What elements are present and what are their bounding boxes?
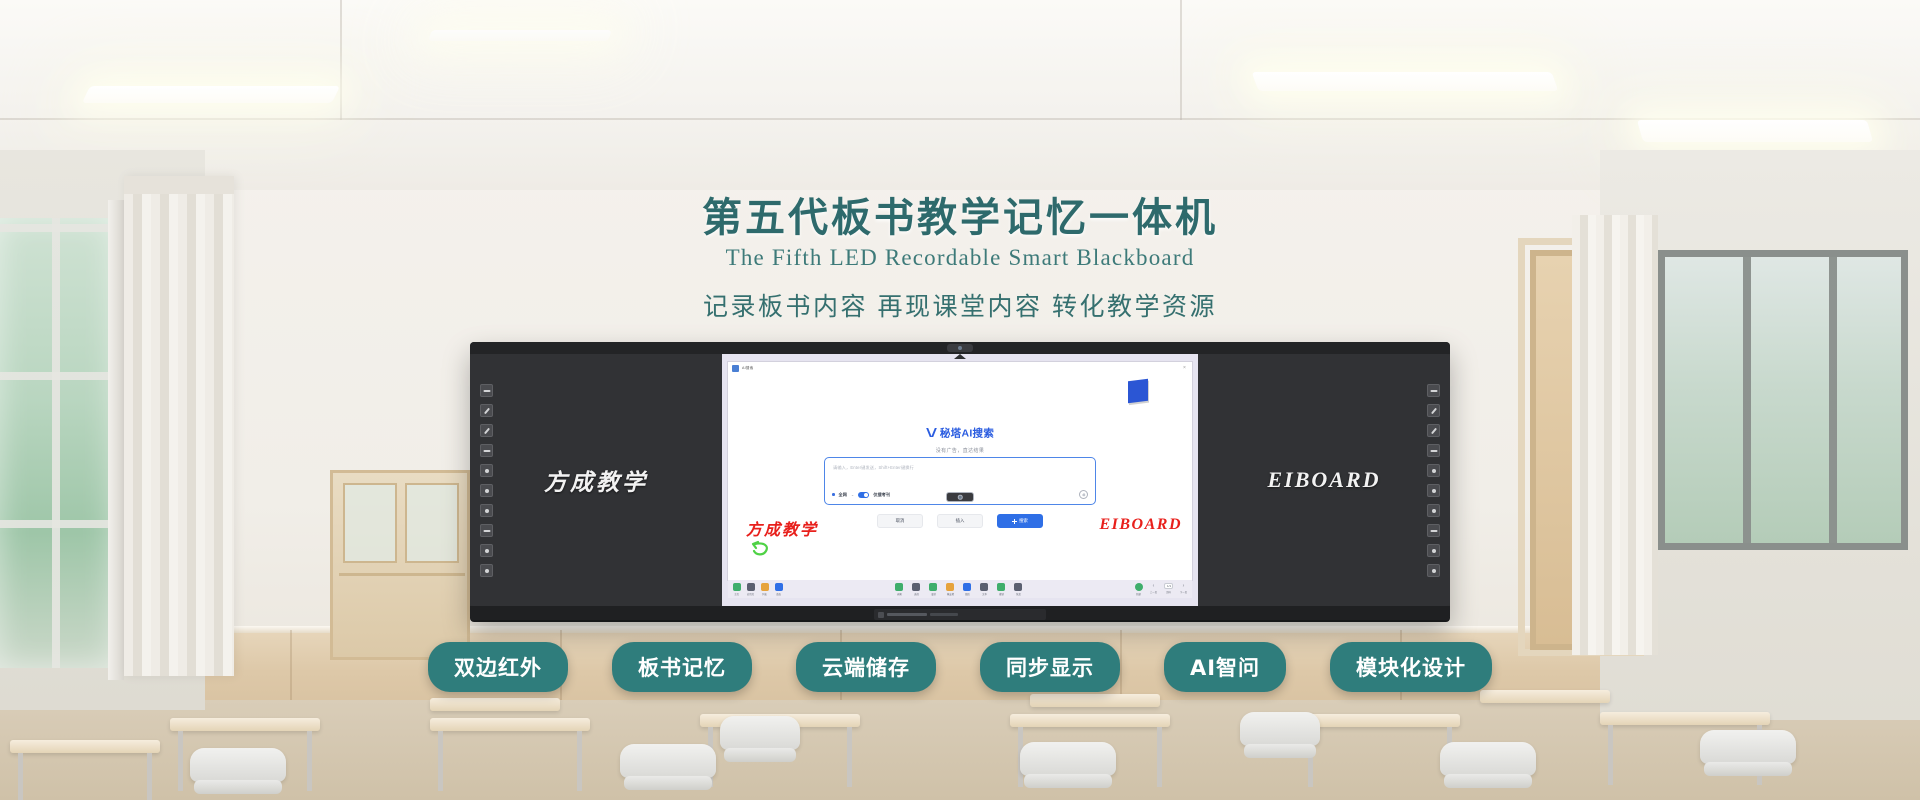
side-button-pen-white[interactable] <box>480 424 493 437</box>
cabinet-shelf <box>339 573 465 576</box>
page-number: 1/1 <box>1164 583 1173 589</box>
taskbar-tool[interactable]: 主页 <box>732 583 741 596</box>
scholar-only-label: 仅搜考刊 <box>873 492 890 498</box>
taskbar-tool-label: 应用库 <box>746 592 754 596</box>
feature-pill-row: 双边红外 板书记忆 云端储存 同步显示 AI智问 模块化设计 <box>0 642 1920 692</box>
feature-pill-board-memory[interactable]: 板书记忆 <box>612 642 752 692</box>
taskbar-tool-label: 撤销 <box>997 592 1005 596</box>
wooden-cabinet <box>330 470 470 660</box>
side-button-screen-toggle[interactable] <box>480 384 493 397</box>
chevron-right-icon: › <box>1179 583 1188 589</box>
taskbar-center-tools[interactable]: 画笔 选择 漫游 橡皮擦 图形 文本 撤销 恢复 <box>787 583 1130 596</box>
side-button-page-new[interactable] <box>480 444 493 457</box>
app-window-title: AI搜索 <box>742 366 753 371</box>
chevron-left-icon: ‹ <box>1149 583 1158 589</box>
metaso-logo-icon <box>926 428 937 437</box>
side-button-screen-toggle[interactable] <box>1427 384 1440 397</box>
taskbar-tool-label: 橡皮擦 <box>946 592 954 596</box>
cabinet-pane <box>405 483 459 563</box>
page-subtitle-english: The Fifth LED Recordable Smart Blackboar… <box>0 245 1920 271</box>
taskbar-tool[interactable]: 文本 <box>980 583 989 596</box>
taskbar-tool[interactable]: 应用库 <box>746 583 755 596</box>
left-panel-handwriting: 方成教学 <box>470 463 722 497</box>
next-page-label: 下一页 <box>1179 590 1187 594</box>
side-button-memory[interactable] <box>480 524 493 537</box>
screen-notch <box>954 354 966 359</box>
side-button-capture[interactable] <box>1427 544 1440 557</box>
taskbar-tool-label: 主页 <box>732 592 740 596</box>
ceiling-light <box>428 30 612 41</box>
os-status-bar[interactable] <box>874 609 1046 620</box>
page-title: 第五代板书教学记忆一体机 <box>0 196 1920 239</box>
ceiling-light <box>82 86 340 103</box>
camera-icon <box>947 344 973 352</box>
side-button-save[interactable] <box>480 504 493 517</box>
ceiling-seam <box>1180 0 1182 120</box>
side-button-pen-red[interactable] <box>480 404 493 417</box>
search-placeholder: 请输入，Enter键发送，Shift+Enter键换行 <box>833 465 914 471</box>
blackboard-display-screen[interactable]: AI搜索 × 秘塔AI搜索 没有广告，直达结果 请输入，Enter键发送，Shi… <box>722 354 1198 606</box>
ceiling-seam <box>0 118 1920 120</box>
cancel-button[interactable]: 取消 <box>877 514 923 528</box>
side-button-memory[interactable] <box>1427 524 1440 537</box>
hero-title-block: 第五代板书教学记忆一体机 The Fifth LED Recordable Sm… <box>0 196 1920 323</box>
insert-button[interactable]: 插入 <box>937 514 983 528</box>
taskbar-tool-label: 新建 <box>1134 592 1142 596</box>
app-taskbar[interactable]: 主页 应用库 列表 桌面 画笔 选择 漫游 橡皮擦 图形 文本 撤销 恢复 新建 <box>728 580 1192 598</box>
feature-pill-dual-infrared[interactable]: 双边红外 <box>428 642 568 692</box>
taskbar-tool[interactable]: 列表 <box>760 583 769 596</box>
taskbar-tool[interactable]: 恢复 <box>1014 583 1023 596</box>
taskbar-tool[interactable]: 图形 <box>963 583 972 596</box>
prev-page-label: 上一页 <box>1149 590 1157 594</box>
mode-dot-icon <box>832 493 835 496</box>
ceiling-light <box>1252 72 1559 91</box>
feature-pill-cloud-storage[interactable]: 云端储存 <box>796 642 936 692</box>
taskbar-tool-label: 恢复 <box>1014 592 1022 596</box>
search-options-row[interactable]: 全网 ⌄ 仅搜考刊 <box>832 490 1088 499</box>
side-button-pen-red[interactable] <box>1427 404 1440 417</box>
taskbar-left-tools[interactable]: 主页 应用库 列表 桌面 <box>728 583 787 596</box>
classroom-hero-scene: 第五代板书教学记忆一体机 The Fifth LED Recordable Sm… <box>0 0 1920 800</box>
taskbar-tool-label: 选择 <box>912 592 920 596</box>
side-button-pen-white[interactable] <box>1427 424 1440 437</box>
plus-icon[interactable] <box>1079 490 1088 499</box>
right-panel-handwriting: EIBOARD <box>1198 467 1450 493</box>
os-strip <box>887 613 927 616</box>
app-slogan: 没有广告，直达结果 <box>728 447 1192 454</box>
taskbar-tool[interactable]: 画笔 <box>895 583 904 596</box>
search-mode-label[interactable]: 全网 <box>839 492 847 498</box>
taskbar-tool-label: 图形 <box>963 592 971 596</box>
next-page-button[interactable]: ›下一页 <box>1179 583 1188 594</box>
taskbar-tool[interactable]: 撤销 <box>997 583 1006 596</box>
ai-search-app-window[interactable]: AI搜索 × 秘塔AI搜索 没有广告，直达结果 请输入，Enter键发送，Shi… <box>728 362 1192 580</box>
app-logo-icon <box>732 365 739 372</box>
search-input-box[interactable]: 请输入，Enter键发送，Shift+Enter键换行 全网 ⌄ 仅搜考刊 <box>824 457 1096 505</box>
taskbar-tool-label: 漫游 <box>929 592 937 596</box>
ceiling-light <box>1637 120 1873 142</box>
taskbar-tool-label: 文本 <box>980 592 988 596</box>
search-button[interactable]: 搜索 <box>997 514 1043 528</box>
taskbar-tool[interactable]: 桌面 <box>774 583 783 596</box>
feature-pill-ai-ask[interactable]: AI智问 <box>1164 642 1286 692</box>
taskbar-tool[interactable]: 新建 <box>1134 583 1143 596</box>
board-bottom-bezel <box>470 606 1450 620</box>
taskbar-tool[interactable]: 选择 <box>912 583 921 596</box>
app-titlebar: AI搜索 <box>732 365 753 372</box>
camera-icon[interactable] <box>946 492 974 502</box>
taskbar-tool-label: 桌面 <box>774 592 782 596</box>
handwriting-annotation-cn: 方成教学 <box>746 516 818 540</box>
handwriting-annotation-en: EIBOARD <box>1099 516 1182 534</box>
side-button-settings[interactable] <box>480 564 493 577</box>
feature-pill-sync-display[interactable]: 同步显示 <box>980 642 1120 692</box>
ceiling-seam <box>340 0 342 120</box>
close-icon[interactable]: × <box>1182 366 1187 371</box>
chevron-down-icon[interactable]: ⌄ <box>851 492 854 497</box>
side-button-save[interactable] <box>1427 504 1440 517</box>
taskbar-tool[interactable]: 漫游 <box>929 583 938 596</box>
smart-blackboard[interactable]: 方成教学 AI搜索 × 秘塔AI搜索 没有广告，直达结果 请输入，Enter键发… <box>470 342 1450 620</box>
page-label: 页码 <box>1164 590 1172 594</box>
page-indicator: 1/1页码 <box>1164 583 1173 594</box>
blue-square-annotation <box>1128 379 1148 403</box>
page-tagline: 记录板书内容 再现课堂内容 转化教学资源 <box>0 287 1920 323</box>
side-button-page-new[interactable] <box>1427 444 1440 457</box>
app-brand-name: 秘塔AI搜索 <box>940 427 994 439</box>
board-top-bezel <box>470 342 1450 354</box>
search-sparkle-icon <box>1012 519 1017 524</box>
search-button-label: 搜索 <box>1019 518 1028 524</box>
undo-arrow-icon[interactable] <box>750 540 772 558</box>
cabinet-pane <box>343 483 397 563</box>
feature-pill-modular-design[interactable]: 模块化设计 <box>1330 642 1492 692</box>
os-strip <box>930 613 958 616</box>
taskbar-tool-label: 列表 <box>760 592 768 596</box>
os-menu-icon[interactable] <box>878 612 884 618</box>
taskbar-right-tools[interactable]: 新建 ‹上一页 1/1页码 ›下一页 <box>1130 583 1192 596</box>
scholar-only-toggle[interactable] <box>858 492 869 498</box>
prev-page-button[interactable]: ‹上一页 <box>1149 583 1158 594</box>
taskbar-tool-label: 画笔 <box>895 592 903 596</box>
blackboard-left-panel[interactable]: 方成教学 <box>470 354 722 606</box>
side-button-settings[interactable] <box>1427 564 1440 577</box>
side-button-capture[interactable] <box>480 544 493 557</box>
app-brand-block: 秘塔AI搜索 没有广告，直达结果 <box>728 424 1192 454</box>
blackboard-right-panel[interactable]: EIBOARD <box>1198 354 1450 606</box>
taskbar-tool[interactable]: 橡皮擦 <box>946 583 955 596</box>
